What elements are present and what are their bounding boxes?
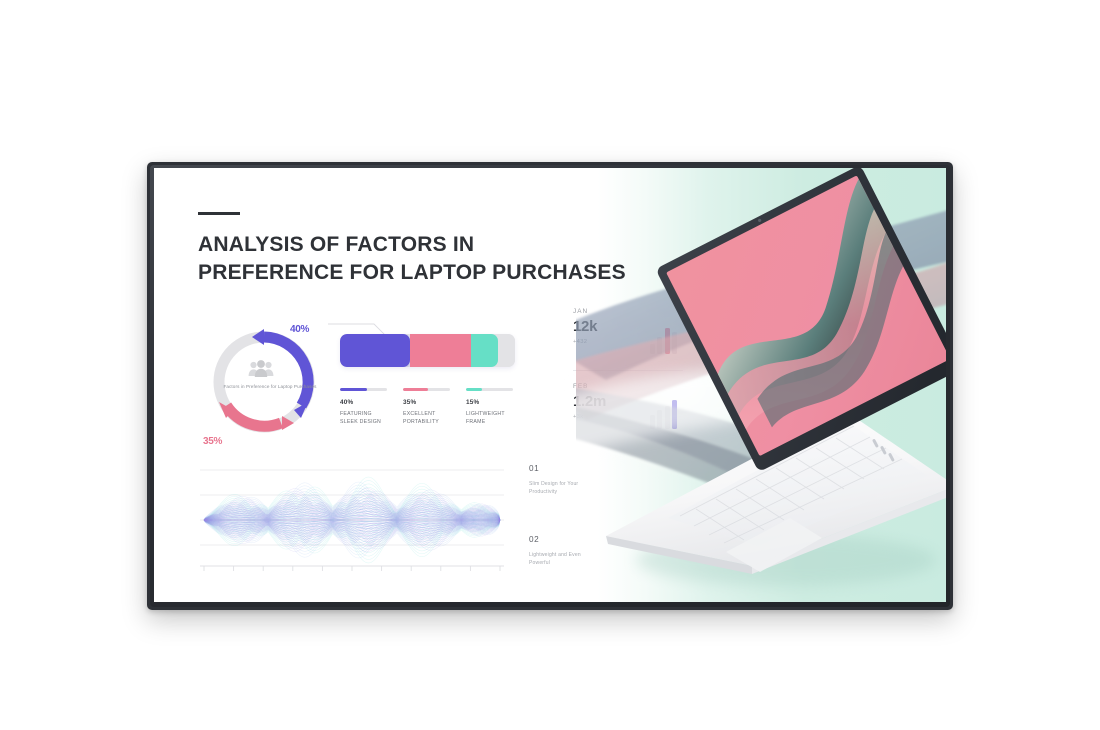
monitor-screen: ANALYSIS OF FACTORS IN PREFERENCE FOR LA… xyxy=(154,168,946,602)
legend: 40% FEATURING SLEEK DESIGN 35% EXCELLENT… xyxy=(340,388,520,427)
stacked-bar-segment-2 xyxy=(471,334,497,367)
donut-center-caption: Factors in Preference for Laptop Purchas… xyxy=(220,384,320,391)
legend-item: 15% LIGHTWEIGHT FRAME xyxy=(466,388,515,427)
waveform-chart xyxy=(192,460,512,580)
donut-label-40-unit: % xyxy=(301,324,310,335)
donut-chart: Factors in Preference for Laptop Purchas… xyxy=(198,316,348,451)
stacked-bar-segment-0 xyxy=(340,334,410,367)
title-rule xyxy=(198,212,240,215)
legend-pct: 40% xyxy=(340,399,389,406)
legend-label: LIGHTWEIGHT FRAME xyxy=(466,410,515,426)
laptop-product-image xyxy=(576,168,946,602)
legend-fill-1 xyxy=(403,388,428,391)
legend-item: 40% FEATURING SLEEK DESIGN xyxy=(340,388,389,427)
legend-pct: 35% xyxy=(403,399,452,406)
waveform-ticks xyxy=(204,566,500,571)
screenshot-stage: ANALYSIS OF FACTORS IN PREFERENCE FOR LA… xyxy=(0,0,1100,730)
legend-label: EXCELLENT PORTABILITY xyxy=(403,410,452,426)
donut-label-40-value: 40 xyxy=(290,324,301,335)
donut-label-35: 35% xyxy=(203,428,222,449)
legend-pct: 15% xyxy=(466,399,515,406)
laptop-svg xyxy=(576,168,946,602)
donut-label-35-value: 35 xyxy=(203,436,214,447)
stacked-bar-segment-3 xyxy=(498,334,516,367)
donut-label-40: 40% xyxy=(290,316,309,337)
legend-fill-2 xyxy=(466,388,482,391)
monitor-frame: ANALYSIS OF FACTORS IN PREFERENCE FOR LA… xyxy=(147,162,953,610)
people-icon xyxy=(248,360,274,383)
legend-track xyxy=(403,388,450,391)
legend-track xyxy=(340,388,387,391)
legend-item: 35% EXCELLENT PORTABILITY xyxy=(403,388,452,427)
stacked-bar-block: 40% FEATURING SLEEK DESIGN 35% EXCELLENT… xyxy=(340,334,520,427)
donut-label-35-unit: % xyxy=(214,436,223,447)
waveform-svg xyxy=(192,460,512,580)
stacked-bar xyxy=(340,334,515,367)
legend-fill-0 xyxy=(340,388,367,391)
legend-label: FEATURING SLEEK DESIGN xyxy=(340,410,389,426)
stacked-bar-segment-1 xyxy=(410,334,471,367)
legend-track xyxy=(466,388,513,391)
